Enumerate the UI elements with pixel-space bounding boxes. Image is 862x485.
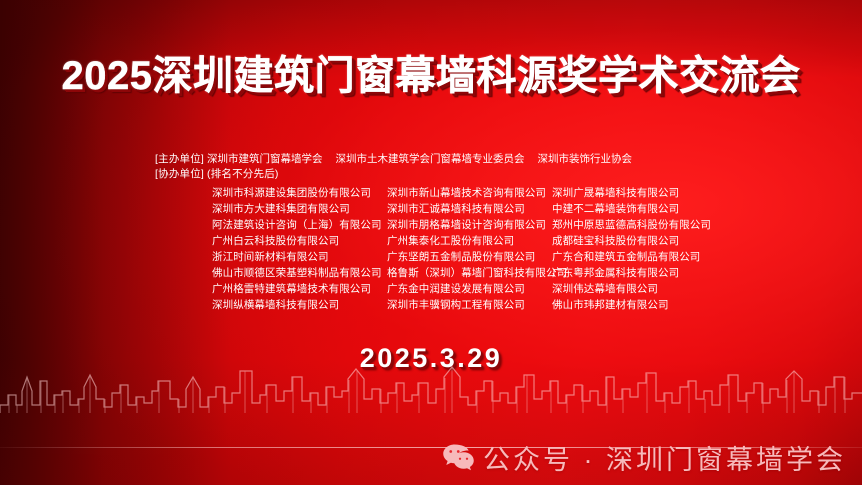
- event-date: 2025.3.29: [0, 343, 862, 374]
- sponsor-item: 深圳市新山幕墙技术咨询有限公司: [387, 185, 552, 201]
- cohost-note: (排名不分先后): [207, 168, 279, 180]
- host-item: 深圳市建筑门窗幕墙学会: [207, 153, 323, 165]
- sponsor-item: 深圳市丰骥钢构工程有限公司: [387, 297, 552, 313]
- page-title: 2025深圳建筑门窗幕墙科源奖学术交流会: [0, 55, 862, 97]
- sponsor-item: 广州集泰化工股份有限公司: [387, 233, 552, 249]
- sponsor-item: 佛山市顺德区荣基塑料制品有限公司: [212, 265, 387, 281]
- host-item: 深圳市装饰行业协会: [538, 153, 633, 165]
- sponsor-item: 格鲁斯（深圳）幕墙门窗科技有限公司: [387, 265, 552, 281]
- sponsor-item: 广州白云科技股份有限公司: [212, 233, 387, 249]
- sponsor-column-2: 深圳市新山幕墙技术咨询有限公司 深圳市汇诚幕墙科技有限公司 深圳市朋格幕墙设计咨…: [387, 185, 552, 313]
- sponsor-item: 深圳市方大建科集团有限公司: [212, 201, 387, 217]
- sponsor-item: 阿法建筑设计咨询（上海）有限公司: [212, 217, 387, 233]
- sponsor-item: 深圳市汇诚幕墙科技有限公司: [387, 201, 552, 217]
- sponsor-item: 佛山市玮邦建材有限公司: [552, 297, 752, 313]
- sponsor-item: 深圳广晟幕墙科技有限公司: [552, 185, 752, 201]
- sponsor-item: 郑州中原思蓝德高科股份有限公司: [552, 217, 752, 233]
- sponsor-item: 深圳市朋格幕墙设计咨询有限公司: [387, 217, 552, 233]
- sponsor-column-3: 深圳广晟幕墙科技有限公司 中建不二幕墙装饰有限公司 郑州中原思蓝德高科股份有限公…: [552, 185, 752, 313]
- sponsor-item: 中建不二幕墙装饰有限公司: [552, 201, 752, 217]
- sponsor-item: 广东粤邦金属科技有限公司: [552, 265, 752, 281]
- sponsor-list: 深圳市科源建设集团股份有限公司 深圳市方大建科集团有限公司 阿法建筑设计咨询（上…: [212, 185, 832, 313]
- host-label: [主办单位]: [155, 152, 207, 167]
- host-items: 深圳市建筑门窗幕墙学会深圳市土木建筑学会门窗幕墙专业委员会深圳市装饰行业协会: [207, 153, 645, 165]
- wechat-account-label: 公众号 · 深圳门窗幕墙学会: [483, 438, 846, 477]
- sponsor-item: 深圳纵横幕墙科技有限公司: [212, 297, 387, 313]
- cohost-label: [协办单位]: [155, 167, 207, 182]
- sponsor-item: 深圳市科源建设集团股份有限公司: [212, 185, 387, 201]
- host-item: 深圳市土木建筑学会门窗幕墙专业委员会: [336, 153, 525, 165]
- sponsor-item: 广东合和建筑五金制品有限公司: [552, 249, 752, 265]
- sponsor-item: 广东金中润建设发展有限公司: [387, 281, 552, 297]
- sponsor-item: 浙江时间新材料有限公司: [212, 249, 387, 265]
- wechat-icon: [443, 444, 474, 471]
- organizer-block: [主办单位]深圳市建筑门窗幕墙学会深圳市土木建筑学会门窗幕墙专业委员会深圳市装饰…: [155, 152, 795, 182]
- wechat-account-bar[interactable]: 公众号 · 深圳门窗幕墙学会: [443, 438, 846, 477]
- sponsor-column-1: 深圳市科源建设集团股份有限公司 深圳市方大建科集团有限公司 阿法建筑设计咨询（上…: [212, 185, 387, 313]
- host-line: [主办单位]深圳市建筑门窗幕墙学会深圳市土木建筑学会门窗幕墙专业委员会深圳市装饰…: [155, 152, 795, 167]
- sponsor-item: 广东坚朗五金制品股份有限公司: [387, 249, 552, 265]
- sponsor-item: 成都硅宝科技股份有限公司: [552, 233, 752, 249]
- cohost-line: [协办单位](排名不分先后): [155, 167, 795, 182]
- poster-root: 2025深圳建筑门窗幕墙科源奖学术交流会 [主办单位]深圳市建筑门窗幕墙学会深圳…: [0, 0, 862, 485]
- sponsor-item: 深圳伟达幕墙有限公司: [552, 281, 752, 297]
- sponsor-item: 广州格雷特建筑幕墙技术有限公司: [212, 281, 387, 297]
